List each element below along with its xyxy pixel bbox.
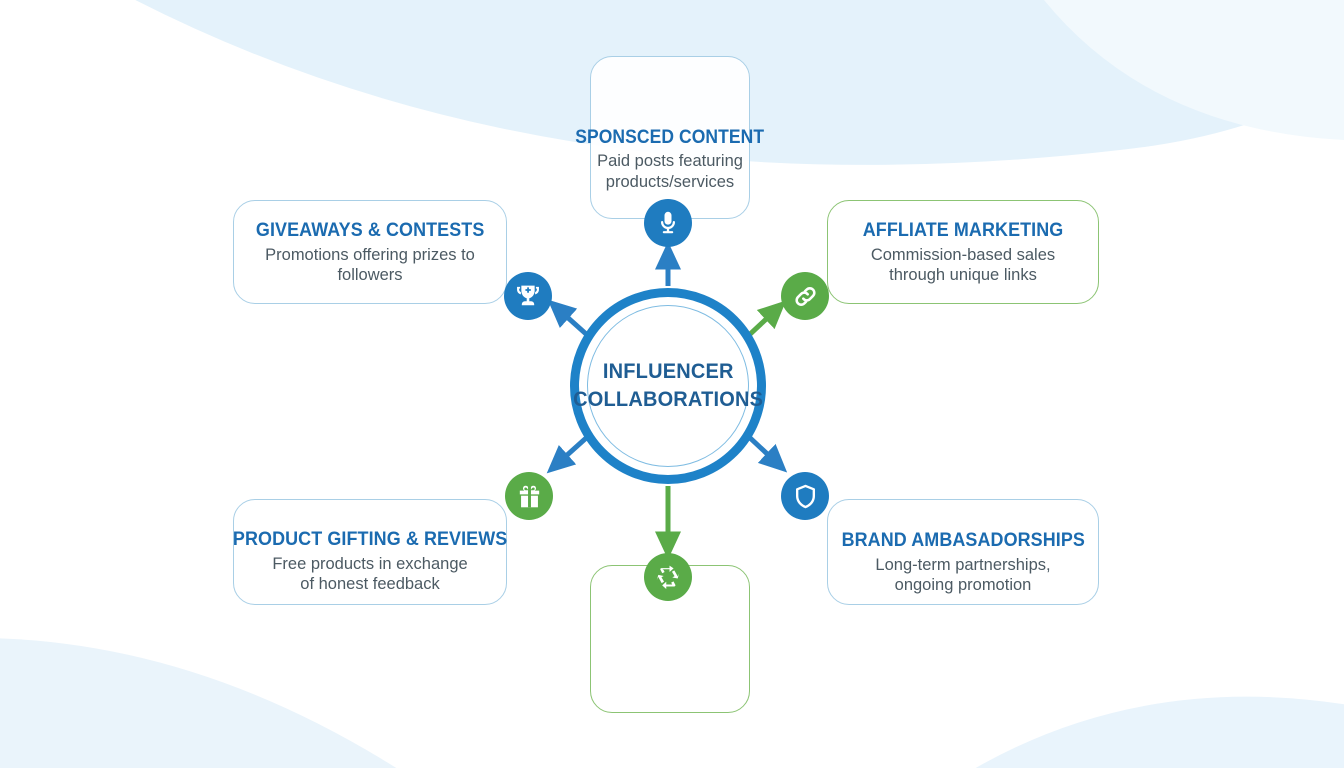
node-title-product-gifting-reviews: PRODUCT GIFTING & REVIEWS [233, 529, 507, 551]
recycle-icon[interactable] [644, 553, 692, 601]
microphone-icon[interactable] [644, 199, 692, 247]
link-icon[interactable] [781, 272, 829, 320]
hub-title-line-1: INFLUENCER [603, 358, 734, 386]
hub-title-line-2: COLLABORATIONS [573, 386, 763, 414]
node-title-brand-ambassadorships: BRAND AMBASADORSHIPS [841, 530, 1084, 552]
shield-icon[interactable] [781, 472, 829, 520]
node-description-affiliate-marketing: Commission-based sales through unique li… [871, 245, 1055, 287]
node-card-affiliate-marketing[interactable]: AFFLIATE MARKETING Commission-based sale… [827, 200, 1099, 304]
node-card-sponsored-content[interactable]: SPONSCED CONTENT Paid posts featuring pr… [590, 56, 750, 219]
node-title-giveaways-contests: GIVEAWAYS & CONTESTS [256, 220, 484, 242]
node-description-giveaways-contests: Promotions offering prizes to followers [265, 245, 475, 287]
node-description-brand-ambassadorships: Long-term partnerships, ongoing promotio… [875, 555, 1050, 597]
node-description-product-gifting-reviews: Free products in exchange of honest feed… [272, 554, 467, 596]
diagram-canvas: SPONSCED CONTENT Paid posts featuring pr… [0, 0, 1344, 768]
trophy-icon[interactable] [504, 272, 552, 320]
node-description-sponsored-content: Paid posts featuring products/services [597, 151, 743, 193]
node-card-giveaways-contests[interactable]: GIVEAWAYS & CONTESTS Promotions offering… [233, 200, 507, 304]
node-card-brand-ambassadorships[interactable]: BRAND AMBASADORSHIPS Long-term partnersh… [827, 499, 1099, 605]
node-title-sponsored-content: SPONSCED CONTENT [576, 127, 765, 148]
gift-icon[interactable] [505, 472, 553, 520]
central-hub[interactable]: INFLUENCER COLLABORATIONS [570, 288, 766, 484]
central-hub-inner-ring: INFLUENCER COLLABORATIONS [587, 305, 749, 467]
node-title-affiliate-marketing: AFFLIATE MARKETING [863, 220, 1064, 242]
node-card-product-gifting-reviews[interactable]: PRODUCT GIFTING & REVIEWS Free products … [233, 499, 507, 605]
